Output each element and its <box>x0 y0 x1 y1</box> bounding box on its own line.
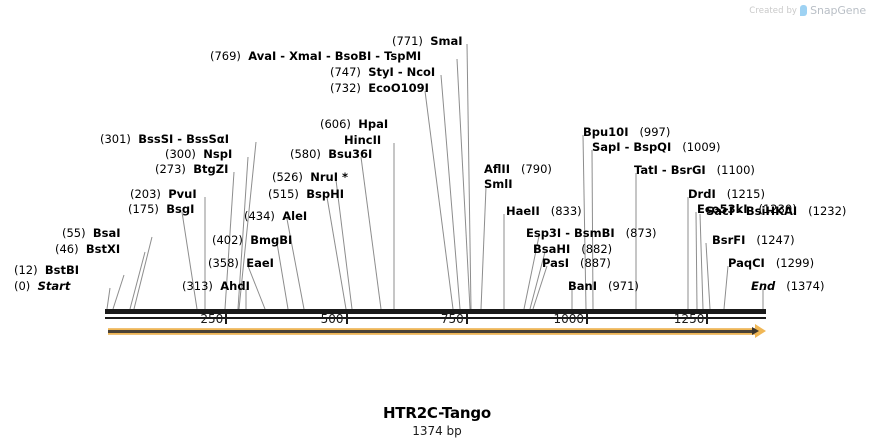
enzyme-site-position: (402) <box>212 233 243 247</box>
enzyme-label[interactable]: (771) SmaI <box>392 35 463 48</box>
enzyme-label[interactable]: (301) BssSI - BssSαI <box>100 133 229 146</box>
enzyme-label[interactable]: AflII (790) <box>484 163 552 176</box>
enzyme-name: SmlI <box>484 177 513 191</box>
enzyme-name: BanI <box>568 279 597 293</box>
enzyme-site-position: (997) <box>639 125 670 139</box>
enzyme-site-position: (771) <box>392 34 423 48</box>
snapgene-watermark: Created by SnapGene <box>749 4 866 17</box>
enzyme-name-separator: - <box>276 49 289 63</box>
footer: HTR2C-Tango 1374 bp <box>0 404 874 438</box>
enzyme-name: TatI <box>634 163 658 177</box>
enzyme-label[interactable]: (12) BstBI <box>14 264 79 277</box>
ruler-tick-label: 1000 <box>554 312 585 326</box>
enzyme-site-position: (971) <box>608 279 639 293</box>
ruler-tick-label: 750 <box>441 312 464 326</box>
enzyme-name: HpaI <box>358 117 388 131</box>
enzyme-label[interactable]: End (1374) <box>751 280 825 293</box>
enzyme-connector-line <box>134 237 152 309</box>
connector-lines <box>0 0 874 445</box>
enzyme-site-position: (1009) <box>682 140 720 154</box>
enzyme-name: StyI <box>368 65 394 79</box>
ruler-tick-label: 1250 <box>674 312 705 326</box>
page-title: HTR2C-Tango <box>0 404 874 422</box>
enzyme-site-position: (882) <box>581 242 612 256</box>
enzyme-site-position: (747) <box>330 65 361 79</box>
enzyme-site-position: (1100) <box>717 163 755 177</box>
enzyme-connector-line <box>724 266 728 309</box>
enzyme-name-separator: - <box>561 226 574 240</box>
enzyme-connector-line <box>425 91 453 309</box>
enzyme-label[interactable]: PaqCI (1299) <box>728 257 814 270</box>
enzyme-name: PvuI <box>168 187 196 201</box>
enzyme-site-position: (833) <box>551 204 582 218</box>
enzyme-name: End <box>751 279 775 293</box>
enzyme-connector-line <box>327 197 346 309</box>
enzyme-label[interactable]: SapI - BspQI (1009) <box>592 141 720 154</box>
enzyme-label[interactable]: BanI (971) <box>568 280 639 293</box>
enzyme-label[interactable]: (402) BmgBI <box>212 234 292 247</box>
enzyme-label[interactable]: Esp3I - BsmBI (873) <box>526 227 657 240</box>
enzyme-connector-line <box>467 44 471 309</box>
enzyme-connector-line <box>696 212 697 309</box>
ruler-tick-label: 500 <box>321 312 344 326</box>
enzyme-name: BssSI <box>138 132 173 146</box>
enzyme-connector-line <box>533 266 547 309</box>
enzyme-site-position: (1299) <box>776 256 814 270</box>
ruler-tick <box>706 314 708 324</box>
enzyme-label[interactable]: (526) NruI * <box>272 171 348 184</box>
enzyme-label[interactable]: (55) BsaI <box>62 227 121 240</box>
enzyme-site-position: (732) <box>330 81 361 95</box>
enzyme-name: BsiHKAI <box>746 204 797 218</box>
enzyme-label[interactable]: (313) AhdI <box>182 280 250 293</box>
enzyme-connector-line <box>248 266 265 309</box>
enzyme-site-position: (1247) <box>756 233 794 247</box>
enzyme-name: BsrGI <box>671 163 706 177</box>
enzyme-label[interactable]: (732) EcoO109I <box>330 82 429 95</box>
enzyme-site-position: (273) <box>155 162 186 176</box>
enzyme-connector-line <box>277 243 288 309</box>
ruler-tick <box>225 314 227 324</box>
enzyme-site-position: (300) <box>165 147 196 161</box>
enzyme-connector-line <box>706 243 710 309</box>
enzyme-name: AflII <box>484 162 510 176</box>
enzyme-connector-line <box>481 187 486 309</box>
enzyme-name: BsrFI <box>712 233 745 247</box>
enzyme-connector-line <box>457 59 470 309</box>
enzyme-label[interactable]: (175) BsgI <box>128 203 194 216</box>
enzyme-name: SapI <box>592 140 621 154</box>
enzyme-label[interactable]: (515) BspHI <box>268 188 344 201</box>
enzyme-connector-line <box>441 75 460 309</box>
enzyme-name: PasI <box>542 256 569 270</box>
enzyme-name-separator: - <box>173 132 186 146</box>
enzyme-site-position: (580) <box>290 147 321 161</box>
enzyme-name-separator: - <box>394 65 407 79</box>
enzyme-label[interactable]: DrdI (1215) <box>688 188 765 201</box>
feature-arrow-head-core <box>752 327 759 335</box>
enzyme-site-position: (769) <box>210 49 241 63</box>
enzyme-label[interactable]: (46) BstXI <box>55 243 120 256</box>
enzyme-name: SmaI <box>430 34 462 48</box>
enzyme-connector-line <box>182 212 197 309</box>
enzyme-connector-line <box>361 157 381 309</box>
enzyme-site-position: (515) <box>268 187 299 201</box>
watermark-prefix: Created by <box>749 6 797 16</box>
enzyme-site-position: (175) <box>128 202 159 216</box>
enzyme-label[interactable]: HincII <box>344 134 381 147</box>
enzyme-name: NspI <box>203 147 232 161</box>
enzyme-name: BsmBI <box>574 226 615 240</box>
enzyme-name: NruI * <box>310 170 348 184</box>
enzyme-name: BspHI <box>306 187 344 201</box>
enzyme-name: Bsu36I <box>328 147 372 161</box>
enzyme-site-position: (0) <box>14 279 30 293</box>
enzyme-name-separator: - <box>733 204 746 218</box>
enzyme-label[interactable]: (358) EaeI <box>208 257 274 270</box>
enzyme-name: BsaI <box>93 226 121 240</box>
enzyme-site-position: (12) <box>14 263 38 277</box>
enzyme-name: XmaI <box>289 49 322 63</box>
restriction-map: Created by SnapGene (771) SmaI(769) AvaI… <box>0 0 874 445</box>
enzyme-site-position: (301) <box>100 132 131 146</box>
snapgene-logo-icon <box>800 5 807 16</box>
enzyme-connector-line <box>130 252 145 309</box>
enzyme-name: DrdI <box>688 187 716 201</box>
enzyme-name: NcoI <box>407 65 436 79</box>
enzyme-name: BmgBI <box>250 233 292 247</box>
enzyme-site-position: (873) <box>626 226 657 240</box>
enzyme-name-separator: - <box>621 140 634 154</box>
enzyme-label[interactable]: SacI - BsiHKAI (1232) <box>706 205 846 218</box>
enzyme-name: PaqCI <box>728 256 765 270</box>
enzyme-name: BstBI <box>45 263 79 277</box>
enzyme-label[interactable]: HaeII (833) <box>506 205 582 218</box>
enzyme-label[interactable]: SmlI <box>484 178 513 191</box>
enzyme-label[interactable]: (606) HpaI <box>320 118 388 131</box>
enzyme-name: TspMI <box>384 49 421 63</box>
enzyme-label[interactable]: (0) Start <box>14 280 70 293</box>
enzyme-label[interactable]: (434) AleI <box>244 210 307 223</box>
enzyme-name: SacI <box>706 204 733 218</box>
enzyme-name: AvaI <box>248 49 276 63</box>
enzyme-connector-line <box>113 275 124 309</box>
enzyme-site-position: (46) <box>55 242 79 256</box>
enzyme-site-position: (606) <box>320 117 351 131</box>
enzyme-name: EcoO109I <box>368 81 429 95</box>
enzyme-site-position: (526) <box>272 170 303 184</box>
enzyme-label[interactable]: (203) PvuI <box>130 188 197 201</box>
enzyme-connector-line <box>700 214 703 309</box>
feature-arrow-core <box>108 330 758 333</box>
enzyme-site-position: (434) <box>244 209 275 223</box>
enzyme-name: AleI <box>282 209 307 223</box>
ruler-tick <box>586 314 588 324</box>
enzyme-name: BsoBI <box>335 49 372 63</box>
enzyme-site-position: (55) <box>62 226 86 240</box>
ruler-tick <box>346 314 348 324</box>
enzyme-name: EaeI <box>246 256 274 270</box>
ruler-tick-label: 250 <box>200 312 223 326</box>
enzyme-site-position: (790) <box>521 162 552 176</box>
enzyme-label[interactable]: BsaHI (882) <box>533 243 612 256</box>
enzyme-name: BssSαI <box>186 132 229 146</box>
enzyme-name: BtgZI <box>193 162 228 176</box>
enzyme-label[interactable]: PasI (887) <box>542 257 611 270</box>
enzyme-name: HaeII <box>506 204 540 218</box>
enzyme-label[interactable]: Bpu10I (997) <box>583 126 670 139</box>
enzyme-name: AhdI <box>220 279 250 293</box>
enzyme-name: BstXI <box>86 242 120 256</box>
enzyme-site-position: (203) <box>130 187 161 201</box>
enzyme-name: Bpu10I <box>583 125 628 139</box>
enzyme-name: BsaHI <box>533 242 570 256</box>
enzyme-label[interactable]: (273) BtgZI <box>155 163 228 176</box>
enzyme-label[interactable]: (300) NspI <box>165 148 232 161</box>
sequence-length: 1374 bp <box>0 424 874 438</box>
enzyme-name-separator: - <box>322 49 335 63</box>
enzyme-label[interactable]: BsrFI (1247) <box>712 234 795 247</box>
enzyme-name: HincII <box>344 133 381 147</box>
enzyme-site-position: (887) <box>580 256 611 270</box>
watermark-brand: SnapGene <box>810 4 866 17</box>
enzyme-label[interactable]: (747) StyI - NcoI <box>330 66 435 79</box>
enzyme-name: Esp3I <box>526 226 561 240</box>
enzyme-label[interactable]: (769) AvaI - XmaI - BsoBI - TspMI <box>210 50 421 63</box>
enzyme-site-position: (358) <box>208 256 239 270</box>
enzyme-name: BsgI <box>166 202 194 216</box>
enzyme-label[interactable]: TatI - BsrGI (1100) <box>634 164 755 177</box>
enzyme-site-position: (1374) <box>786 279 824 293</box>
enzyme-site-position: (1232) <box>808 204 846 218</box>
enzyme-name: Start <box>38 279 71 293</box>
enzyme-connector-line <box>107 288 110 309</box>
enzyme-name-separator: - <box>371 49 384 63</box>
enzyme-name: BspQI <box>633 140 671 154</box>
enzyme-site-position: (313) <box>182 279 213 293</box>
enzyme-label[interactable]: (580) Bsu36I <box>290 148 372 161</box>
enzyme-name-separator: - <box>658 163 671 177</box>
enzyme-site-position: (1215) <box>727 187 765 201</box>
ruler-tick <box>466 314 468 324</box>
